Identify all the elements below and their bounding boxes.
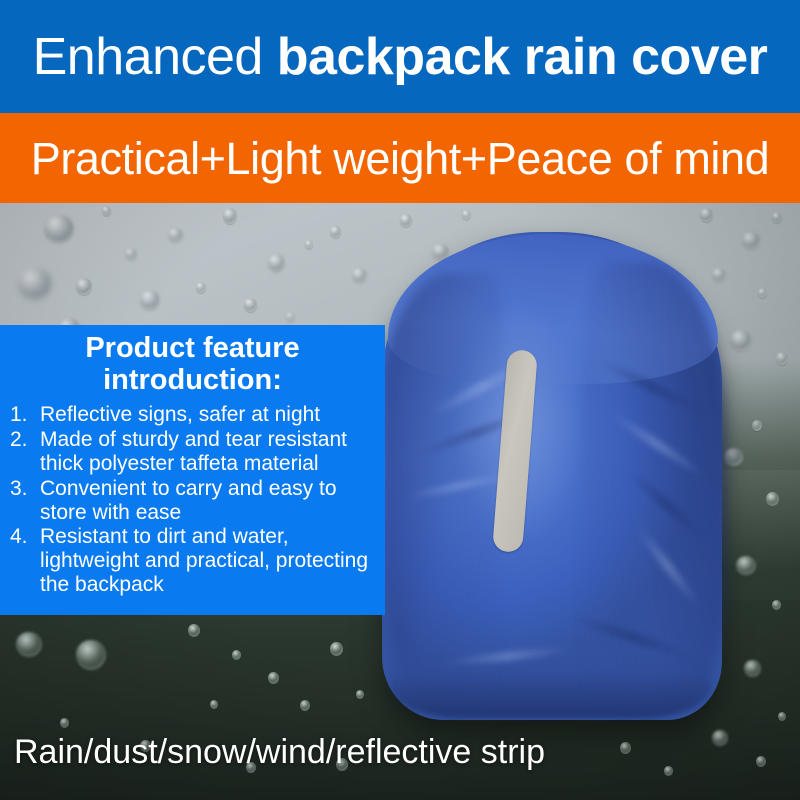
rain-cover-hem — [390, 658, 712, 718]
product-advertisement-poster: Enhanced backpack rain cover Practical+L… — [0, 0, 800, 800]
feature-item-number: 1. — [10, 403, 38, 427]
feature-item-text: Resistant to dirt and water, lightweight… — [40, 525, 368, 596]
page-title: Enhanced backpack rain cover — [33, 31, 768, 83]
feature-item-number: 3. — [10, 477, 38, 501]
feature-item-number: 4. — [10, 525, 38, 549]
page-subtitle: Practical+Light weight+Peace of mind — [31, 136, 770, 181]
feature-item-number: 2. — [10, 428, 38, 452]
product-feature-box: Product feature introduction: 1.Reflecti… — [0, 325, 385, 615]
feature-item-text: Made of sturdy and tear resistant thick … — [40, 428, 347, 475]
feature-box-title: Product feature introduction: — [10, 333, 375, 397]
backpack-rain-cover-image — [382, 232, 722, 720]
feature-item-text: Convenient to carry and easy to store wi… — [40, 477, 337, 524]
footer-caption: Rain/dust/snow/wind/reflective strip — [14, 735, 545, 769]
feature-item-text: Reflective signs, safer at night — [40, 403, 320, 426]
title-bold-part: backpack rain cover — [277, 28, 768, 86]
feature-list-item: 1.Reflective signs, safer at night — [10, 403, 375, 427]
feature-list: 1.Reflective signs, safer at night 2.Mad… — [10, 403, 375, 598]
feature-list-item: 2.Made of sturdy and tear resistant thic… — [10, 428, 375, 476]
feature-list-item: 4.Resistant to dirt and water, lightweig… — [10, 525, 375, 597]
title-light-part: Enhanced — [33, 28, 263, 86]
header-blue-band: Enhanced backpack rain cover — [0, 0, 800, 113]
feature-list-item: 3.Convenient to carry and easy to store … — [10, 477, 375, 525]
header-orange-band: Practical+Light weight+Peace of mind — [0, 113, 800, 203]
